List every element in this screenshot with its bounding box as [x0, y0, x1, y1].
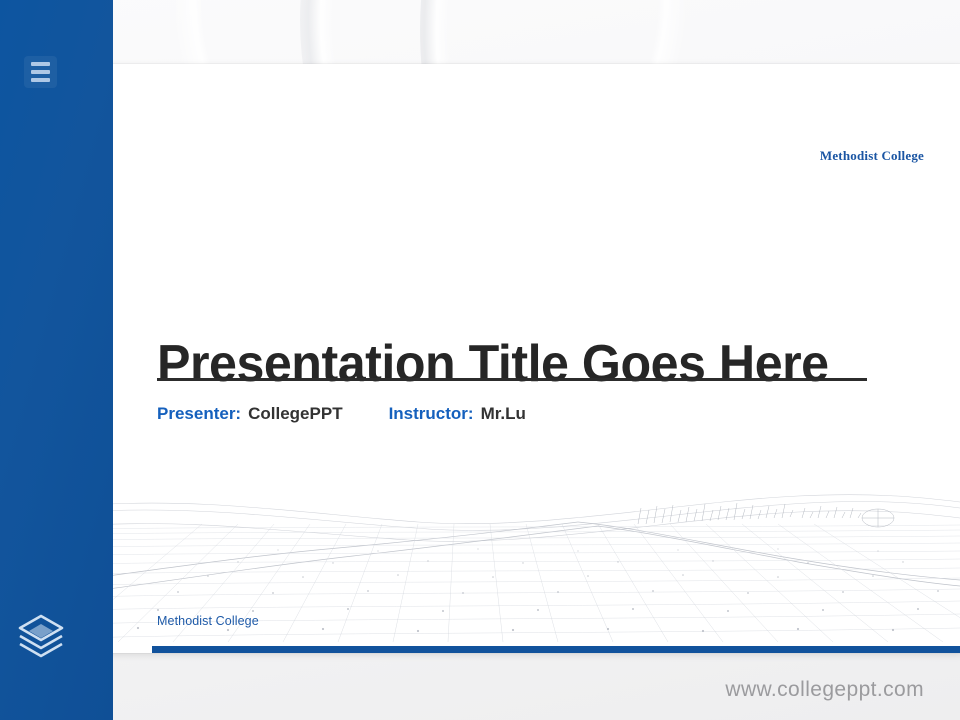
menu-bar-1 — [31, 62, 50, 66]
credit-presenter: Presenter: CollegePPT — [157, 404, 343, 424]
layers-stack-glyph — [16, 612, 66, 660]
page-title: Presentation Title Goes Here — [157, 336, 829, 392]
menu-bar-2 — [31, 70, 50, 74]
instructor-value: Mr.Lu — [481, 404, 526, 424]
left-sidebar — [0, 0, 113, 720]
slide-brand-footer: Methodist College — [157, 614, 259, 628]
presenter-value: CollegePPT — [248, 404, 342, 424]
credit-instructor: Instructor: Mr.Lu — [389, 404, 526, 424]
presenter-label: Presenter: — [157, 404, 241, 424]
slide-canvas[interactable]: Methodist College Presentation Title Goe… — [78, 64, 960, 653]
menu-bar-3 — [31, 78, 50, 82]
instructor-label: Instructor: — [389, 404, 474, 424]
presentation-viewer: Methodist College Presentation Title Goe… — [0, 0, 960, 720]
layers-stack-icon[interactable] — [16, 612, 66, 660]
hamburger-menu-icon[interactable] — [24, 56, 57, 88]
site-watermark: www.collegeppt.com — [725, 678, 924, 702]
credits-row: Presenter: CollegePPT Instructor: Mr.Lu — [157, 404, 526, 424]
slide-brand-top: Methodist College — [820, 148, 924, 164]
slide-accent-bar — [152, 646, 960, 653]
title-underline — [157, 378, 867, 381]
